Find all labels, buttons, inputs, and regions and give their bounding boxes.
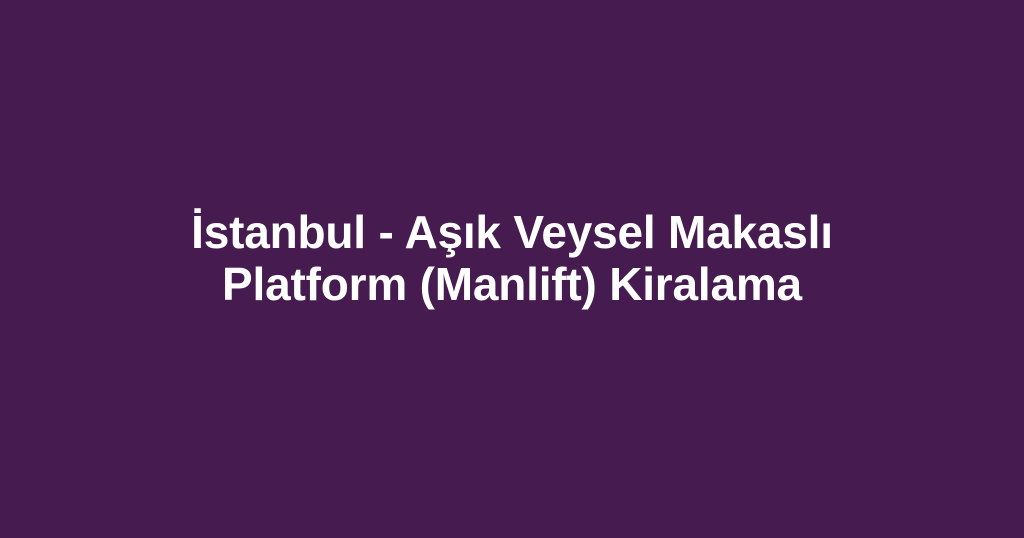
social-share-card: İstanbul - Aşık Veysel Makaslı Platform …: [0, 0, 1024, 538]
page-title-line-1: İstanbul - Aşık Veysel Makaslı: [172, 206, 852, 258]
page-title-line-2: Platform (Manlift) Kiralama: [172, 258, 852, 310]
page-title: İstanbul - Aşık Veysel Makaslı Platform …: [162, 206, 862, 310]
